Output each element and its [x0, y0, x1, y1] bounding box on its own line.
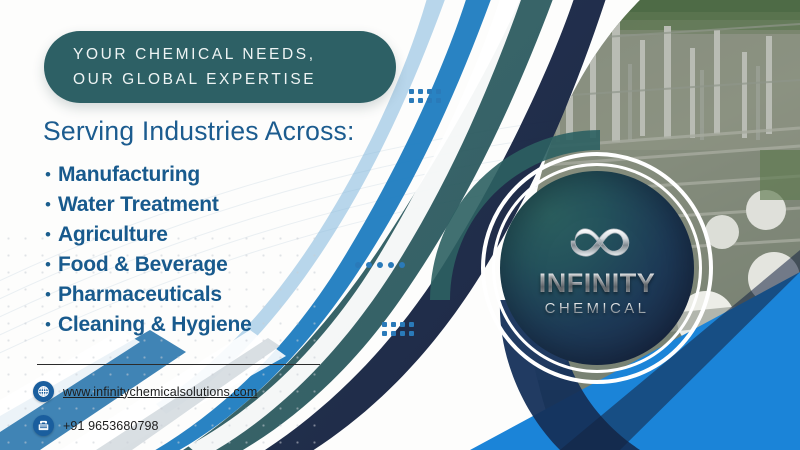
bullet-dot-icon: • — [45, 196, 51, 213]
tagline-line-1: YOUR CHEMICAL NEEDS, — [73, 42, 396, 67]
bullet-dot-icon: • — [45, 256, 51, 273]
logo-disc: INFINITY CHEMICAL — [500, 171, 694, 365]
logo-subtitle: CHEMICAL — [545, 300, 650, 317]
list-item: • Water Treatment — [45, 193, 252, 223]
contact-block: www.infinitychemicalsolutions.com +91 96… — [33, 379, 257, 447]
logo-badge: INFINITY CHEMICAL — [481, 152, 713, 384]
list-item: • Agriculture — [45, 223, 252, 253]
bullet-dot-icon: • — [45, 166, 51, 183]
list-item-label: Manufacturing — [58, 163, 200, 187]
list-item-label: Pharmaceuticals — [58, 283, 222, 307]
list-item-label: Cleaning & Hygiene — [58, 313, 252, 337]
list-item: • Cleaning & Hygiene — [45, 313, 252, 343]
tagline-line-2: OUR GLOBAL EXPERTISE — [73, 67, 396, 92]
list-item: • Manufacturing — [45, 163, 252, 193]
logo-name: INFINITY — [539, 270, 656, 298]
infinity-symbol — [551, 219, 643, 268]
round-dot-row — [355, 262, 405, 268]
contact-row-website[interactable]: www.infinitychemicalsolutions.com — [33, 379, 257, 404]
page-title: Serving Industries Across: — [43, 116, 355, 147]
bullet-dot-icon: • — [45, 226, 51, 243]
phone-number[interactable]: +91 9653680798 — [63, 419, 159, 433]
phone-icon — [33, 415, 54, 436]
globe-icon — [33, 381, 54, 402]
bullet-dot-icon: • — [45, 286, 51, 303]
square-dot-grid-bottom — [382, 322, 414, 336]
website-url[interactable]: www.infinitychemicalsolutions.com — [63, 385, 257, 399]
industries-list: • Manufacturing • Water Treatment • Agri… — [45, 163, 252, 343]
bullet-dot-icon: • — [45, 316, 51, 333]
list-item-label: Food & Beverage — [58, 253, 228, 277]
list-item: • Pharmaceuticals — [45, 283, 252, 313]
divider — [37, 364, 320, 365]
list-item-label: Agriculture — [58, 223, 168, 247]
list-item: • Food & Beverage — [45, 253, 252, 283]
list-item-label: Water Treatment — [58, 193, 219, 217]
tagline-pill: YOUR CHEMICAL NEEDS, OUR GLOBAL EXPERTIS… — [44, 31, 396, 103]
marketing-banner: YOUR CHEMICAL NEEDS, OUR GLOBAL EXPERTIS… — [0, 0, 800, 450]
contact-row-phone[interactable]: +91 9653680798 — [33, 413, 257, 438]
square-dot-grid-top — [409, 89, 441, 103]
